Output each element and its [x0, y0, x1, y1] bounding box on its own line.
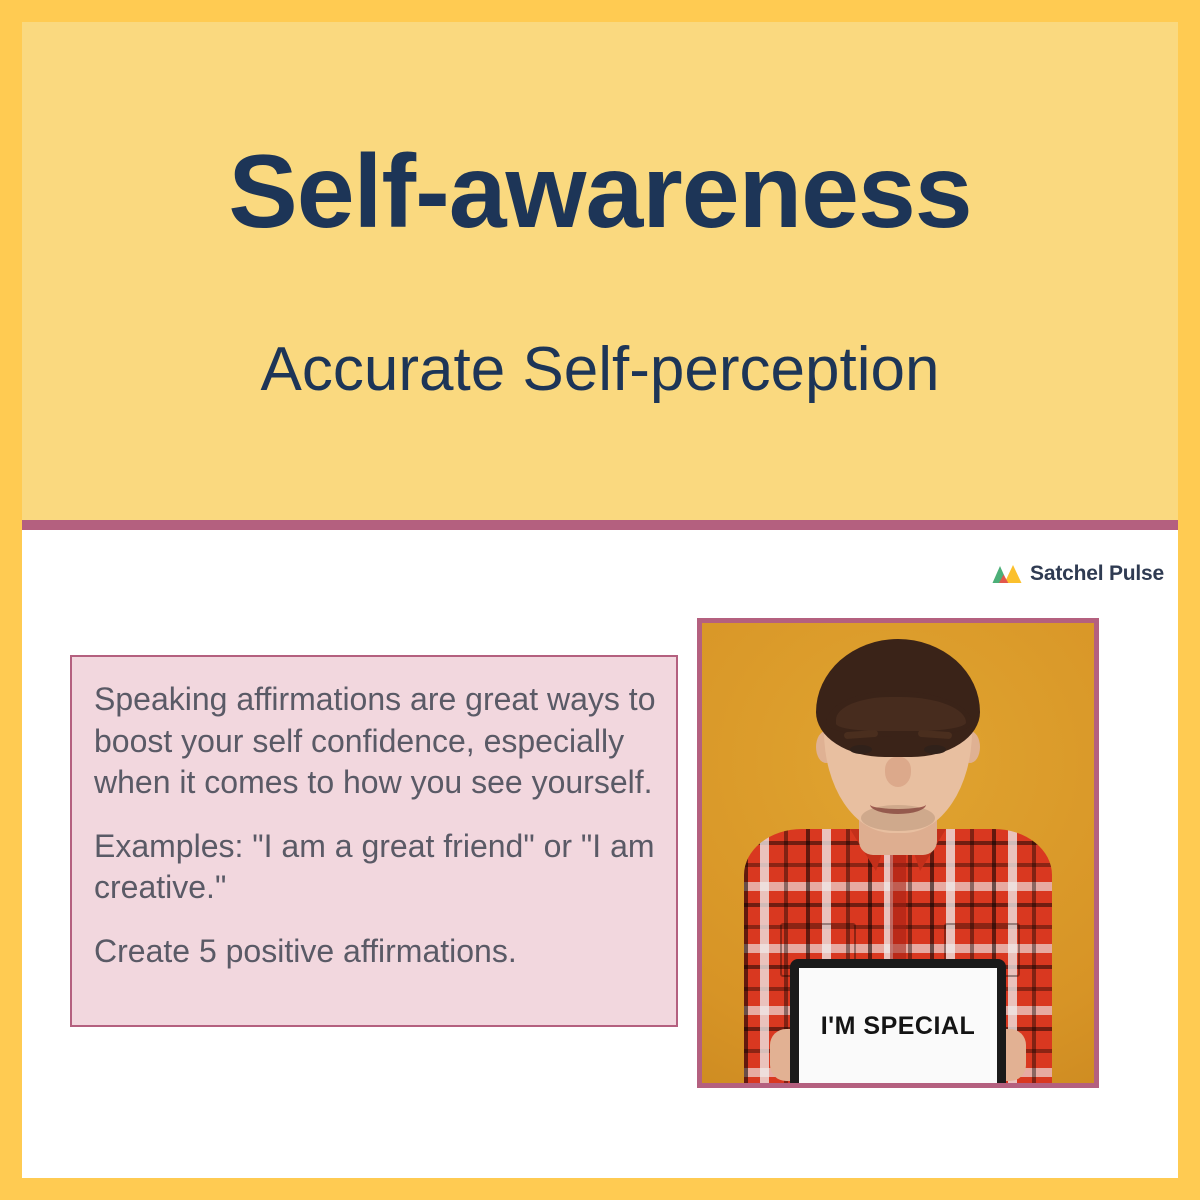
slide-header: Self-awareness Accurate Self-perception — [22, 22, 1178, 520]
whiteboard-text: I'M SPECIAL — [821, 1012, 976, 1041]
whiteboard: I'M SPECIAL — [790, 959, 1006, 1083]
chin — [861, 805, 935, 831]
nose — [885, 757, 911, 787]
photo: I'M SPECIAL — [697, 618, 1099, 1088]
page-title: Self-awareness — [22, 140, 1178, 244]
eye-right — [924, 745, 946, 754]
header-divider — [22, 520, 1178, 530]
slide: Self-awareness Accurate Self-perception … — [0, 0, 1200, 1200]
eye-left — [850, 745, 872, 754]
photo-scene: I'M SPECIAL — [702, 623, 1094, 1083]
slide-body: Satchel Pulse Speaking affirmations are … — [22, 530, 1178, 1178]
mountains-icon — [992, 564, 1022, 585]
whiteboard-surface: I'M SPECIAL — [799, 968, 997, 1083]
page-subtitle: Accurate Self-perception — [22, 339, 1178, 401]
content-text-box: Speaking affirmations are great ways to … — [70, 655, 678, 1027]
paragraph-2: Examples: "I am a great friend" or "I am… — [94, 826, 656, 909]
paragraph-1: Speaking affirmations are great ways to … — [94, 679, 656, 804]
logo-wordmark: Satchel Pulse — [1030, 562, 1164, 586]
satchel-pulse-logo: Satchel Pulse — [992, 562, 1164, 586]
paragraph-3: Create 5 positive affirmations. — [94, 931, 656, 973]
